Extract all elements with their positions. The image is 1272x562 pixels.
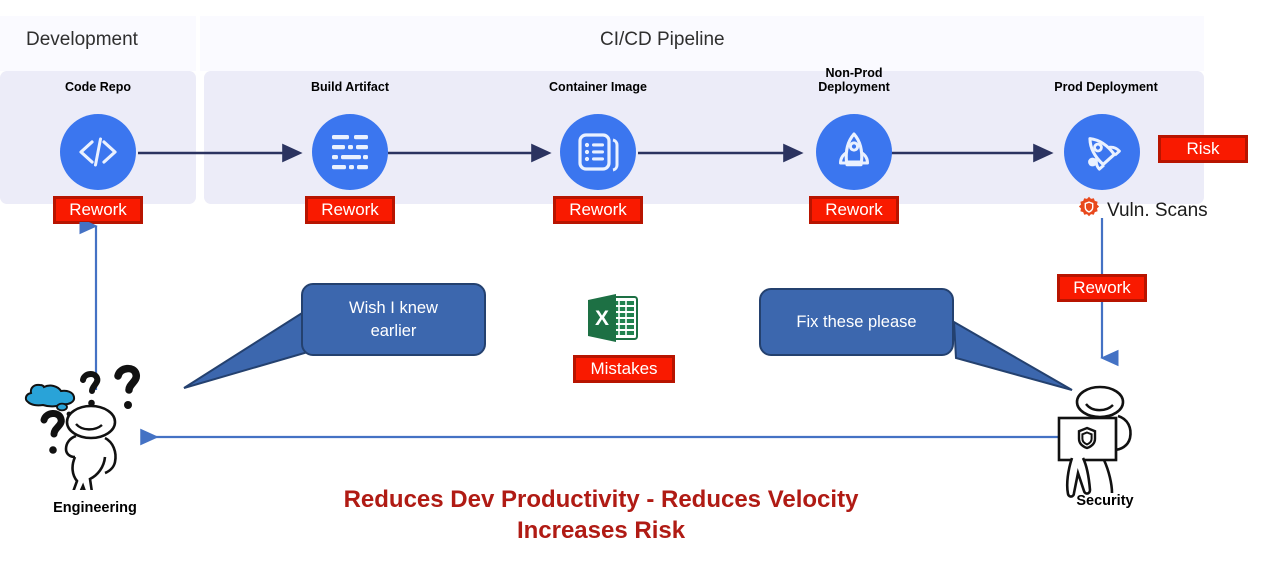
actor-label-engineering: Engineering (25, 500, 165, 516)
risk-chip[interactable]: Risk (1158, 135, 1248, 163)
rocket-up-icon (831, 129, 877, 175)
band-title-cicd: CI/CD Pipeline (600, 29, 725, 51)
actor-label-security: Security (1040, 493, 1170, 509)
mistakes-chip[interactable]: Mistakes (573, 355, 675, 383)
pipeline-node-container-image[interactable] (560, 114, 636, 190)
build-lines-icon (327, 130, 373, 174)
stage-title-container-image: Container Image (528, 80, 668, 94)
document-list-icon (575, 129, 621, 175)
rocket-tilt-icon (1079, 129, 1125, 175)
diagram-canvas: Development CI/CD Pipeline Code Repo Bui… (0, 0, 1272, 562)
speech-bubble-security: Fix these please (759, 288, 954, 356)
rework-chip-security-feedback[interactable]: Rework (1057, 274, 1147, 302)
stage-title-code-repo: Code Repo (28, 80, 168, 94)
speech-bubble-engineering: Wish I knew earlier (301, 283, 486, 356)
pipeline-node-build-artifact[interactable] (312, 114, 388, 190)
band-title-development: Development (26, 29, 138, 51)
pipeline-node-prod-deployment[interactable] (1064, 114, 1140, 190)
rework-chip-container-image[interactable]: Rework (553, 196, 643, 224)
svg-text:X: X (595, 307, 609, 330)
bubble-tail-engineering (180, 300, 320, 400)
stage-title-non-prod-deployment: Non-Prod Deployment (784, 66, 924, 95)
person-with-report-icon (1042, 380, 1162, 503)
security-to-engineering-connector (130, 422, 1090, 452)
confused-person-icon (14, 358, 174, 495)
summary-caption: Reduces Dev Productivity - Reduces Veloc… (286, 484, 916, 546)
rework-chip-code-repo[interactable]: Rework (53, 196, 143, 224)
rework-chip-build-artifact[interactable]: Rework (305, 196, 395, 224)
stage-title-prod-deployment: Prod Deployment (1032, 80, 1180, 94)
excel-spreadsheet-icon: X (585, 291, 641, 354)
code-brackets-icon (74, 128, 122, 176)
rework-chip-non-prod-deployment[interactable]: Rework (809, 196, 899, 224)
pipeline-node-non-prod-deployment[interactable] (816, 114, 892, 190)
stage-title-build-artifact: Build Artifact (280, 80, 420, 94)
pipeline-node-code-repo[interactable] (60, 114, 136, 190)
